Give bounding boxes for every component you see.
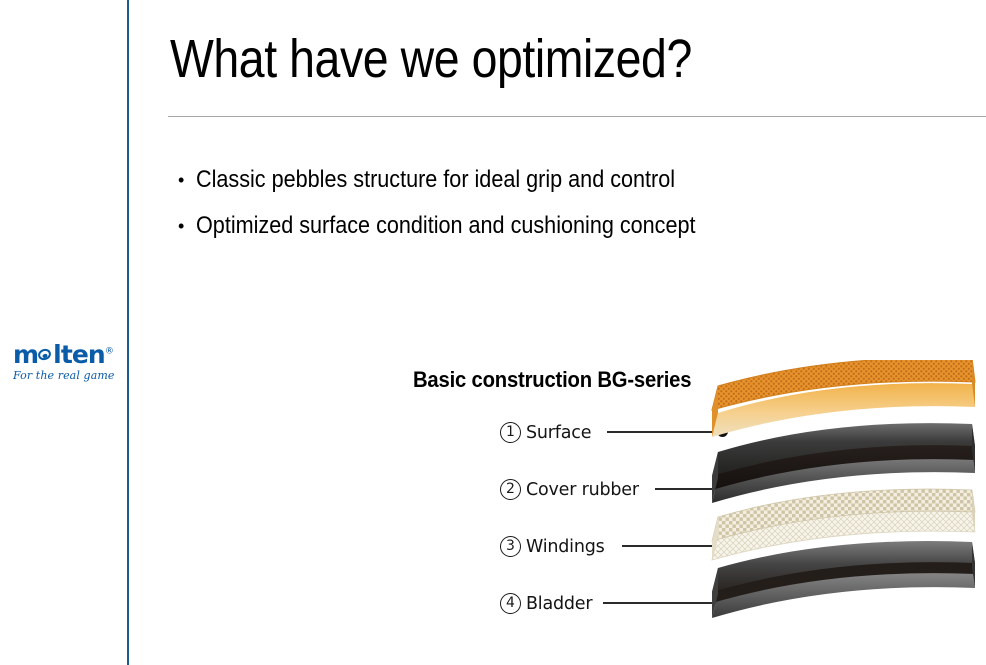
list-item: • Classic pebbles structure for ideal gr…	[178, 165, 878, 195]
ball-construction-diagram: Basic construction BG-series 1 Surface 2…	[400, 360, 986, 665]
layer-shape-bladder	[712, 541, 975, 618]
logo-wordmark-prefix: m	[13, 340, 38, 369]
bullet-text: Classic pebbles structure for ideal grip…	[196, 165, 675, 195]
bullet-list: • Classic pebbles structure for ideal gr…	[178, 165, 878, 257]
left-sidebar-rail: mlten® For the real game	[0, 0, 128, 665]
logo-wordmark: mlten®	[13, 342, 113, 367]
sidebar-divider-line	[127, 0, 129, 665]
bullet-text: Optimized surface condition and cushioni…	[196, 211, 696, 241]
bullet-marker-icon: •	[178, 165, 196, 195]
page-title: What have we optimized?	[170, 28, 692, 90]
list-item: • Optimized surface condition and cushio…	[178, 211, 878, 241]
molten-brand-logo: mlten® For the real game	[13, 342, 117, 382]
registered-trademark-icon: ®	[105, 347, 113, 357]
bullet-marker-icon: •	[178, 211, 196, 241]
title-underline-rule	[168, 116, 986, 117]
logo-tagline: For the real game	[13, 369, 117, 382]
layer-cross-section-artwork	[400, 360, 986, 665]
